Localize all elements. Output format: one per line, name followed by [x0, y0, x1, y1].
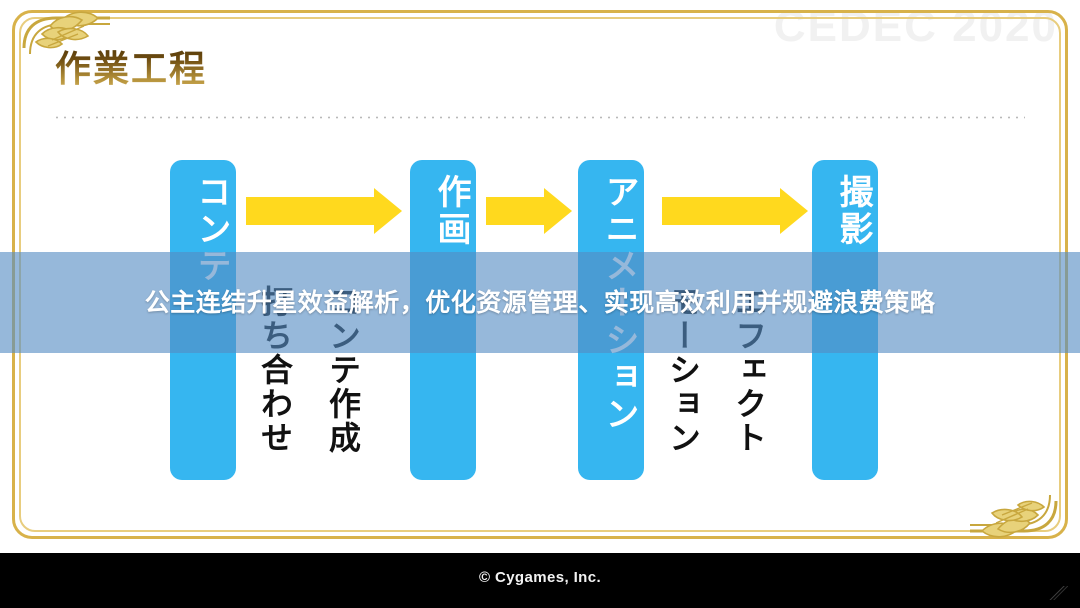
footer-bar: © Cygames, Inc. — [0, 553, 1080, 608]
copyright-text: © Cygames, Inc. — [0, 569, 1080, 586]
caption-overlay-band: 公主连结升星效益解析，优化资源管理、实现高效利用并规避浪费策略 — [0, 252, 1080, 353]
flow-node-label: 作画 — [410, 174, 476, 248]
flow-arrow-icon — [662, 188, 808, 234]
caption-text: 公主连结升星效益解析，优化资源管理、实现高效利用并规避浪费策略 — [100, 286, 981, 320]
presentation-slide: CEDEC 2020 — [0, 0, 1080, 553]
title-divider — [53, 116, 1025, 119]
cedec-watermark: CEDEC 2020 — [774, 2, 1058, 52]
flow-arrow-icon — [246, 188, 402, 234]
page-title: 作業工程 — [55, 40, 207, 92]
slide-screenshot: CEDEC 2020 — [0, 0, 1080, 608]
flow-arrow-icon — [486, 188, 572, 234]
flow-node-label: 撮影 — [812, 174, 878, 248]
corner-marker-icon — [1046, 586, 1068, 600]
